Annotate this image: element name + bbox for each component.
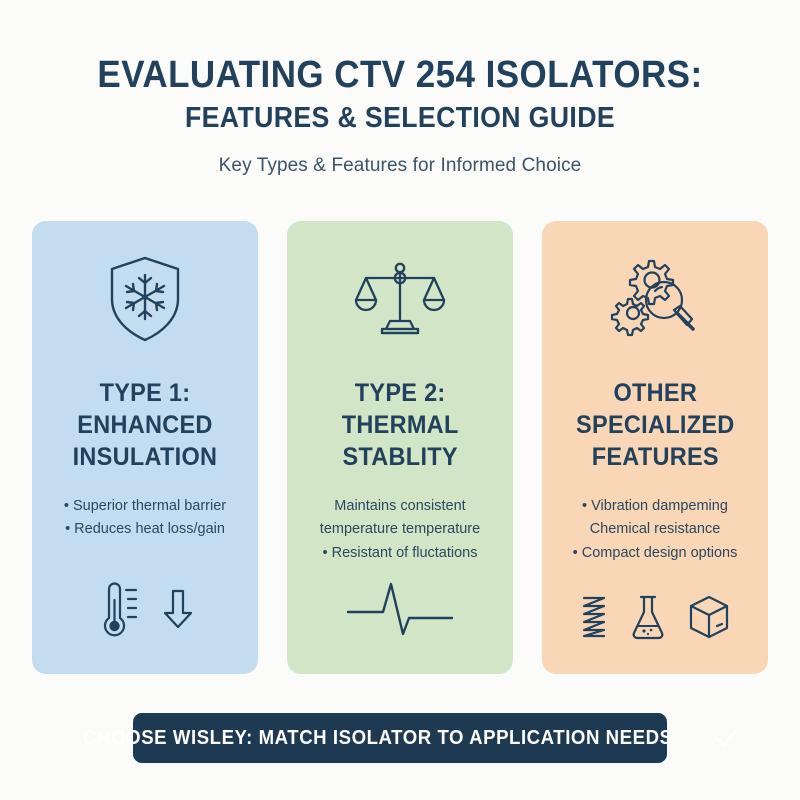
shield-snowflake-icon (103, 251, 187, 347)
card-body-line: • Superior thermal barrier (64, 495, 226, 518)
card-type-2[interactable]: TYPE 2: THERMAL STABLITY Maintains consi… (287, 221, 513, 674)
cta-banner[interactable]: CHOOSE WISLEY: MATCH ISOLATOR TO APPLICA… (133, 713, 667, 763)
card-type-2-body: Maintains consistent temperature tempera… (320, 495, 480, 565)
card-body-line: • Reduces heat loss/gain (64, 518, 226, 541)
card-body-line: Chemical resistance (573, 518, 738, 541)
card-heading-line: TYPE 2: (342, 377, 459, 409)
card-other-specialized-footer-icons (542, 594, 768, 640)
cards-row: TYPE 1: ENHANCED INSULATION • Superior t… (32, 221, 768, 674)
card-type-1-body: • Superior thermal barrier • Reduces hea… (64, 495, 226, 542)
card-other-specialized-body: • Vibration dampeming Chemical resistanc… (573, 495, 738, 565)
card-other-specialized[interactable]: OTHER SPECIALIZED FEATURES • Vibration d… (542, 221, 768, 674)
balance-scale-icon (352, 251, 448, 347)
page-title-line-1: EVALUATING CTV 254 ISOLATORS: (32, 56, 768, 94)
card-heading-line: OTHER (576, 377, 734, 409)
check-icon (713, 727, 739, 749)
card-heading-line: SPECIALIZED (576, 409, 734, 441)
card-body-line: • Resistant of fluctations (320, 542, 480, 565)
card-body-line: Maintains consistent (320, 495, 480, 518)
arrow-down-icon (162, 587, 194, 631)
card-type-1-heading: TYPE 1: ENHANCED INSULATION (73, 377, 218, 473)
card-heading-line: STABLITY (342, 441, 459, 473)
card-heading-line: TYPE 1: (73, 377, 218, 409)
gears-magnifier-icon (609, 251, 701, 347)
waveform-pulse-icon (345, 578, 455, 640)
card-type-2-footer-icons (287, 578, 513, 640)
flask-icon (630, 594, 666, 640)
header: EVALUATING CTV 254 ISOLATORS: FEATURES &… (0, 56, 800, 177)
card-body-line: • Vibration dampeming (573, 495, 738, 518)
card-body-line: • Compact design options (573, 542, 738, 565)
card-heading-line: INSULATION (73, 441, 218, 473)
card-type-1[interactable]: TYPE 1: ENHANCED INSULATION • Superior t… (32, 221, 258, 674)
thermometer-icon (96, 578, 140, 640)
spring-coil-icon (580, 594, 608, 640)
card-heading-line: ENHANCED (73, 409, 218, 441)
card-heading-line: THERMAL (342, 409, 459, 441)
infographic-page: EVALUATING CTV 254 ISOLATORS: FEATURES &… (0, 0, 800, 800)
card-body-line: temperature temperature (320, 518, 480, 541)
card-other-specialized-heading: OTHER SPECIALIZED FEATURES (576, 377, 734, 473)
cta-banner-text: CHOOSE WISLEY: MATCH ISOLATOR TO APPLICA… (83, 727, 672, 750)
card-heading-line: FEATURES (576, 441, 734, 473)
card-type-2-heading: TYPE 2: THERMAL STABLITY (342, 377, 459, 473)
cube-icon (688, 594, 730, 640)
page-subtitle: Key Types & Features for Informed Choice (0, 155, 800, 177)
card-type-1-footer-icons (32, 578, 258, 640)
page-title-line-2: FEATURES & SELECTION GUIDE (32, 104, 768, 133)
